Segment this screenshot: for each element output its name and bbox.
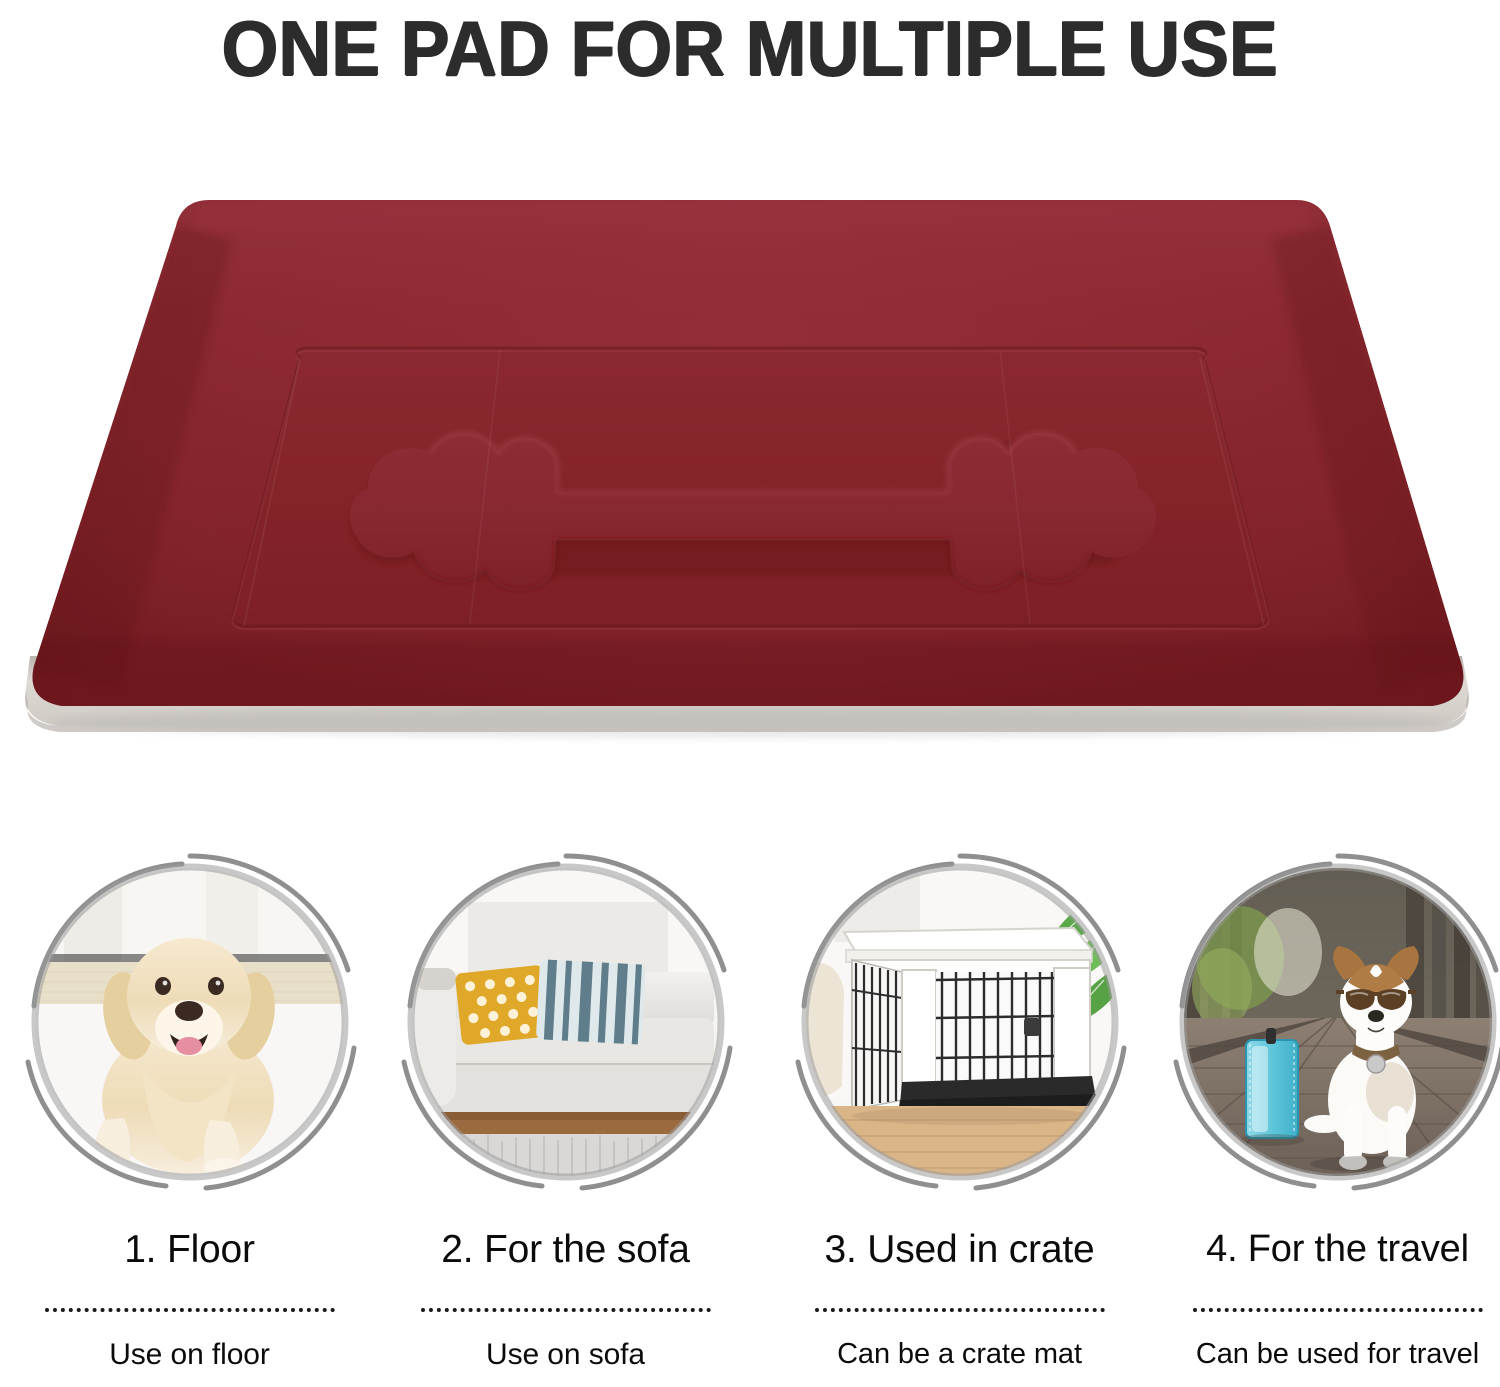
use-case-divider-1	[45, 1308, 335, 1312]
use-case-subcaption-1: Use on floor	[2, 1338, 377, 1372]
use-case-caption-1: 1. Floor	[2, 1228, 377, 1272]
photo-jack-russell-with-sunglasses-and-suitcase	[1184, 868, 1492, 1176]
hero-product-image	[0, 100, 1500, 790]
photo-white-wooden-dog-crate	[806, 868, 1114, 1176]
use-case-card-4[interactable]: 4. For the travel Can be used for travel	[1150, 840, 1500, 1387]
use-case-subcaption-3: Can be a crate mat	[772, 1338, 1147, 1371]
use-case-caption-2: 2. For the sofa	[378, 1228, 753, 1272]
pad-top-bolster-highlight	[190, 204, 1316, 232]
use-case-card-3[interactable]: 3. Used in crate Can be a crate mat	[772, 840, 1147, 1387]
page-title: ONE PAD FOR MULTIPLE USE	[222, 9, 1278, 87]
use-case-divider-2	[421, 1308, 711, 1312]
use-case-photo-frame-3	[786, 848, 1134, 1196]
use-case-caption-3: 3. Used in crate	[772, 1228, 1147, 1272]
use-case-caption-4: 4. For the travel	[1150, 1228, 1500, 1271]
teal-suitcase	[1246, 1028, 1298, 1138]
use-case-card-2[interactable]: 2. For the sofa Use on sofa	[378, 840, 753, 1387]
photo-light-gray-sofa-with-pillows	[412, 868, 720, 1176]
use-case-subcaption-2: Use on sofa	[378, 1338, 753, 1372]
use-case-photo-frame-4	[1164, 848, 1500, 1196]
use-case-photo-frame-1	[16, 848, 364, 1196]
use-case-subcaption-4: Can be used for travel	[1150, 1338, 1500, 1371]
use-case-grid: 1. Floor Use on floor	[0, 840, 1500, 1387]
use-case-photo-frame-2	[392, 848, 740, 1196]
use-case-card-1[interactable]: 1. Floor Use on floor	[2, 840, 377, 1387]
page-title-bar: ONE PAD FOR MULTIPLE USE	[0, 0, 1500, 96]
use-case-divider-4	[1193, 1308, 1483, 1312]
pad-front-edge-shade	[30, 640, 1470, 710]
photo-golden-retriever-on-floor	[36, 868, 344, 1176]
use-case-divider-3	[815, 1308, 1105, 1312]
pad-drop-shadow	[50, 706, 1450, 738]
dog-pad-illustration	[0, 100, 1500, 790]
